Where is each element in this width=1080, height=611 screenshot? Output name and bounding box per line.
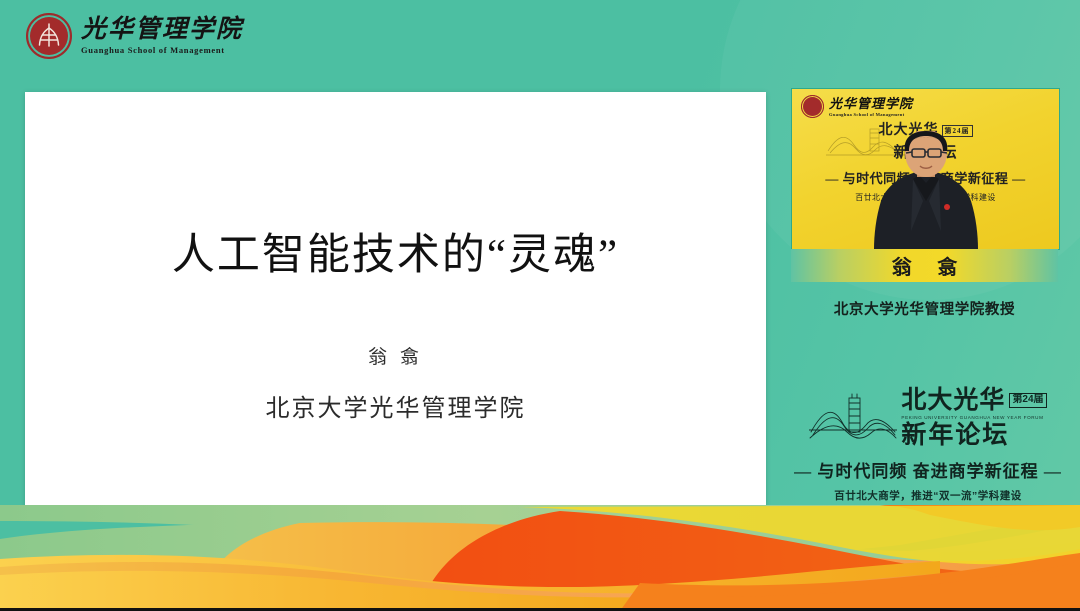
speaker-name-banner: 翁 翕 [791, 249, 1058, 282]
forum-subtitle: 百廿北大商学，推进“双一流”学科建设 [791, 488, 1065, 503]
header-logo-chinese: 光华管理学院 [81, 17, 243, 42]
broadcast-stage: 光华管理学院 Guanghua School of Management 人工智… [0, 0, 1080, 611]
pku-seal-icon-small [801, 95, 824, 118]
forum-english-name: PEKING UNIVERSITY GUANGHUA NEW YEAR FORU… [901, 416, 1043, 421]
forum-edition-badge: 第24届 [1009, 393, 1046, 408]
slide-author: 翁 翕 [25, 342, 766, 369]
speaker-figure [851, 131, 1001, 249]
forum-slogan: — 与时代同频 奋进商学新征程 — [791, 457, 1065, 482]
forum-branding: 北大光华 第24届 PEKING UNIVERSITY GUANGHUA NEW… [791, 388, 1065, 503]
forum-name-line1: 北大光华 [901, 388, 1005, 413]
video-backdrop-logo: 光华管理学院 Guanghua School of Management [801, 95, 913, 118]
speaker-video-panel[interactable]: 光华管理学院 Guanghua School of Management 北大光… [791, 88, 1060, 250]
forum-wave-tower-icon [809, 392, 897, 444]
header-logo-english: Guanghua School of Management [81, 46, 243, 55]
presentation-slide[interactable]: 人工智能技术的“灵魂” 翁 翕 北京大学光华管理学院 [25, 92, 766, 514]
header-logo: 光华管理学院 Guanghua School of Management [26, 13, 243, 59]
pku-seal-icon [26, 13, 72, 59]
forum-name-line2: 新年论坛 [901, 423, 1009, 448]
slide-affiliation: 北京大学光华管理学院 [25, 388, 766, 423]
bottom-wave-decoration [0, 505, 1080, 611]
speaker-name: 翁 翕 [882, 251, 968, 280]
slide-title: 人工智能技术的“灵魂” [25, 220, 766, 282]
video-logo-english: Guanghua School of Management [829, 112, 913, 117]
speaker-title: 北京大学光华管理学院教授 [791, 298, 1058, 319]
header-logo-text: 光华管理学院 Guanghua School of Management [81, 17, 243, 55]
video-logo-chinese: 光华管理学院 [829, 97, 913, 110]
